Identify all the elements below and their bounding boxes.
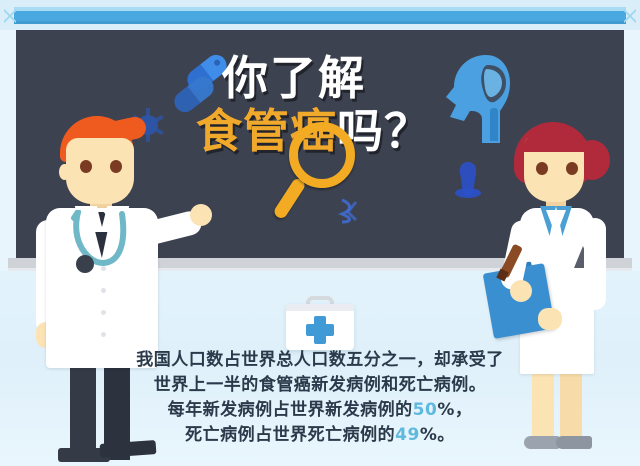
ribbon-shadow (14, 21, 626, 24)
kit-lid (286, 304, 354, 311)
female-left-shoe (524, 436, 560, 449)
male-ear (59, 164, 70, 180)
copy-line-1: 我国人口数占世界总人口数五分之一，却承受了 (120, 348, 520, 373)
headline-line-1: 你了解 (222, 52, 366, 104)
headline-block: 你了解 食管癌吗？ (196, 52, 466, 182)
female-right-leg (560, 370, 582, 444)
headline-keyword: 食管癌 (196, 104, 337, 158)
stethoscope-icon (64, 210, 138, 290)
medical-cross-icon-bar (306, 324, 334, 336)
female-right-hand (538, 308, 562, 330)
first-aid-kit-icon (286, 296, 354, 350)
headline-line-2: 食管癌吗？ (196, 104, 431, 158)
copy-line-2: 世界上一半的食管癌新发病例和死亡病例。 (120, 373, 520, 398)
stat-value-deaths: 49 (395, 425, 420, 445)
female-eye-right (566, 162, 578, 175)
copy-line-4-prefix: 死亡病例占世界死亡病例的 (185, 425, 395, 445)
dna-squiggle-icon (338, 198, 360, 224)
headline-question: 吗？ (337, 104, 431, 158)
female-hair-fringe (522, 132, 588, 152)
ribbon-highlight (14, 7, 626, 11)
copy-line-3-suffix: %， (437, 400, 472, 420)
copy-line-3-prefix: 每年新发病例占世界新发病例的 (168, 400, 413, 420)
female-left-leg (532, 370, 554, 444)
ribbon-fold-left-icon (4, 4, 16, 28)
male-face (66, 138, 134, 204)
stat-value-new-cases: 50 (413, 400, 438, 420)
copy-line-4-suffix: %。 (420, 425, 455, 445)
female-right-arm (584, 218, 606, 310)
male-left-leg (70, 362, 96, 460)
body-copy: 我国人口数占世界总人口数五分之一，却承受了 世界上一半的食管癌新发病例和死亡病例… (120, 348, 520, 448)
female-right-shoe (556, 436, 592, 449)
copy-line-3: 每年新发病例占世界新发病例的50%， (120, 398, 520, 423)
ribbon-fold-right-icon (624, 4, 636, 28)
copy-line-4: 死亡病例占世界死亡病例的49%。 (120, 423, 520, 448)
infographic-canvas: 你了解 食管癌吗？ (0, 0, 640, 466)
female-left-hand (510, 280, 532, 302)
male-eye-right (110, 160, 122, 173)
female-eye-left (536, 162, 548, 175)
male-right-hand (190, 204, 212, 226)
male-eye-left (80, 160, 92, 173)
